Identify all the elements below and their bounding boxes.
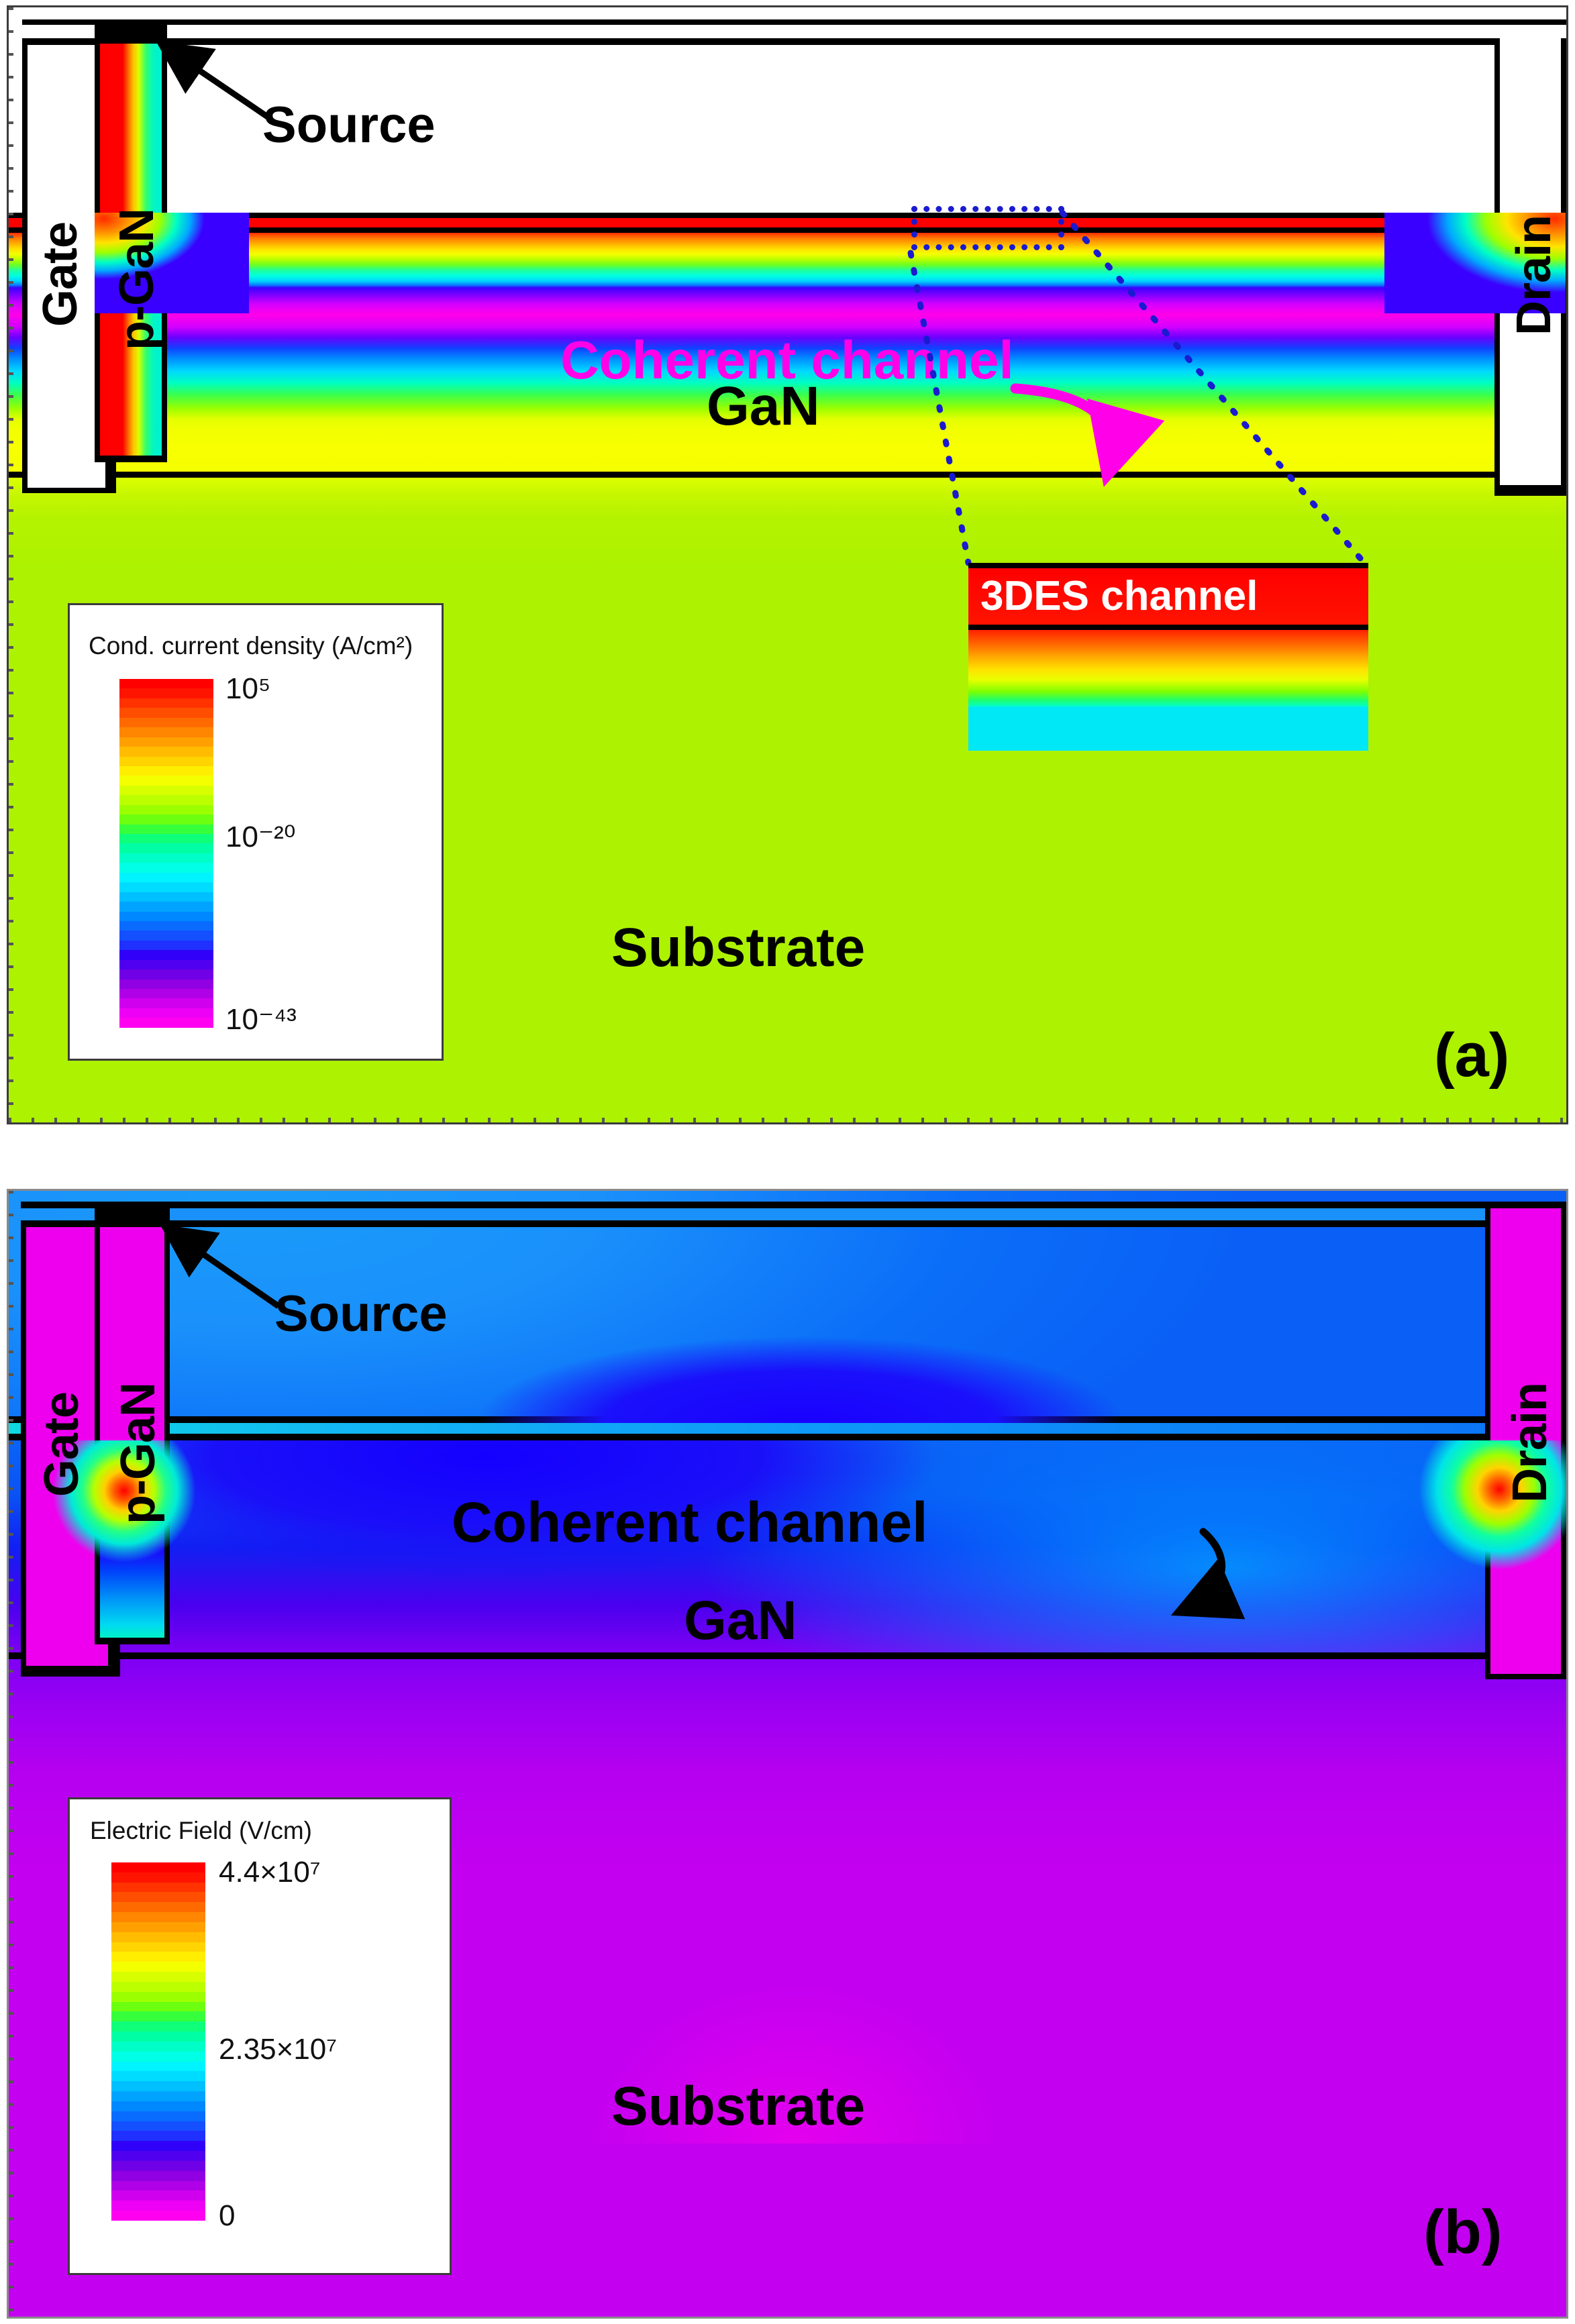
panel-b-colorbar-tick-top: 4.4×10⁷ (219, 1856, 321, 1889)
panel-a-top-rail (22, 19, 1566, 25)
panel-b-label-drain: Drain (1503, 1383, 1558, 1503)
panel-b-label-substrate: Substrate (611, 2075, 865, 2138)
panel-b-caption-label: (b) (1423, 2197, 1502, 2268)
panel-a-source-arrow (156, 38, 291, 132)
panel-a-colorbar-tick-bottom: 10⁻⁴³ (225, 1002, 297, 1037)
panel-b: Gate p-GaN Drain Source GaN GaN Substrat… (7, 1189, 1568, 2319)
panel-b-colorbar-tick-middle: 2.35×10⁷ (219, 2033, 337, 2066)
panel-b-top-rail (21, 1202, 1566, 1208)
panel-b-legend: Electric Field (V/cm) (68, 1797, 452, 2275)
panel-a-label-drain: Drain (1507, 215, 1562, 335)
panel-b-substrate-boundary (9, 1652, 1566, 1659)
panel-b-label-gate: Gate (34, 1392, 89, 1497)
panel-a-colorbar-tick-middle: 10⁻²⁰ (225, 820, 295, 854)
panel-a-label-pgan: p-GaN (109, 209, 164, 350)
panel-a-bottom-ruler (9, 1118, 1566, 1122)
inset-band-top-black (968, 563, 1368, 568)
inset-band-mid-black (968, 625, 1368, 630)
panel-b-rail-bottom (9, 1434, 1566, 1440)
inset-band-cyan (968, 706, 1368, 751)
panel-a-label-gate: Gate (33, 222, 88, 327)
panel-a-left-ruler (9, 7, 13, 1122)
panel-a-legend-title: Cond. current density (A/cm²) (89, 632, 413, 660)
panel-a-caption-label: (a) (1434, 1020, 1509, 1091)
panel-b-coherent-channel-lens (411, 1322, 1190, 1423)
panel-a-label-substrate: Substrate (611, 916, 865, 980)
panel-b-colorbar (111, 1862, 205, 2221)
panel-b-colorbar-tick-bottom: 0 (219, 2199, 235, 2233)
figure-root: Gate p-GaN Drain Source GaN Substrate Co… (0, 0, 1575, 2324)
panel-b-label-gan-visible: GaN (684, 1589, 797, 1652)
panel-a-legend: Cond. current density (A/cm²) (68, 603, 444, 1061)
panel-b-annotation-coherent-channel: Coherent channel (452, 1490, 927, 1555)
panel-a-colorbar (119, 679, 213, 1028)
panel-b-coherent-channel-arrow (1089, 1526, 1237, 1654)
panel-a-callout-leaders (901, 209, 1431, 584)
panel-b-label-source: Source (274, 1285, 448, 1343)
inset-band-spectrum (968, 630, 1368, 706)
panel-a-inset-label-3des: 3DES channel (980, 572, 1258, 620)
panel-b-label-pgan: p-GaN (111, 1383, 166, 1524)
panel-a-colorbar-tick-top: 10⁵ (225, 672, 270, 706)
panel-b-channel-strip (9, 1423, 1566, 1434)
panel-b-legend-title: Electric Field (V/cm) (90, 1817, 312, 1845)
panel-b-left-ruler (9, 1191, 13, 2317)
panel-a-inset-3des: 3DES channel (968, 563, 1368, 751)
panel-a: Gate p-GaN Drain Source GaN Substrate Co… (7, 5, 1568, 1124)
panel-a-drift-top-line (167, 41, 1494, 45)
panel-b-source-arrow (160, 1222, 295, 1322)
panel-b-top-strip-fill (170, 1208, 1566, 1220)
